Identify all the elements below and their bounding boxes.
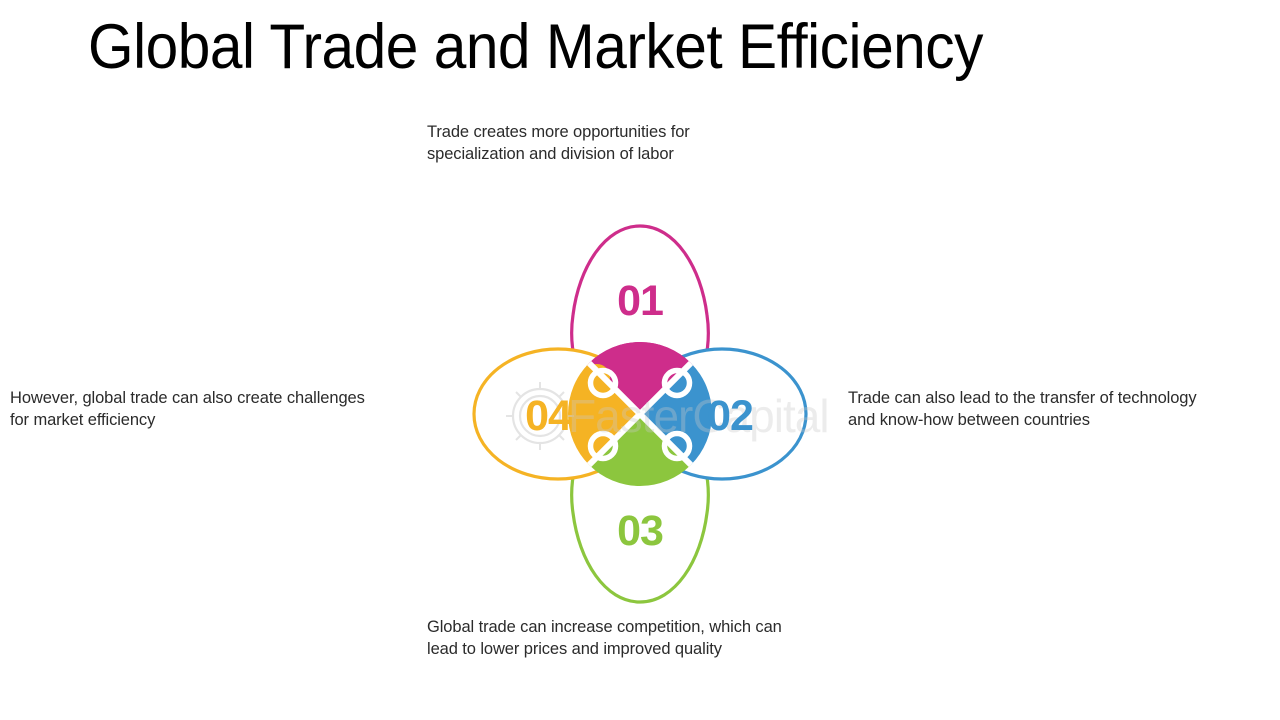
petal-number-03: 03: [617, 507, 663, 555]
four-petal-puzzle-diagram: FasterCapital 01 02 03 04: [430, 195, 850, 625]
caption-petal-04: However, global trade can also create ch…: [10, 387, 430, 431]
caption-petal-02-line2: and know-how between countries: [848, 409, 1268, 431]
caption-petal-02-line1: Trade can also lead to the transfer of t…: [848, 387, 1268, 409]
caption-petal-03-line2: lead to lower prices and improved qualit…: [427, 638, 857, 660]
caption-petal-01: Trade creates more opportunities for spe…: [427, 121, 767, 165]
petal-number-01: 01: [617, 277, 663, 325]
caption-petal-04-line2: for market efficiency: [10, 409, 430, 431]
page-title: Global Trade and Market Efficiency: [88, 8, 983, 86]
petal-number-02: 02: [707, 392, 753, 440]
caption-petal-01-line2: specialization and division of labor: [427, 143, 767, 165]
watermark-label: FasterCapital: [568, 390, 829, 442]
petal-number-04: 04: [525, 392, 572, 440]
caption-petal-02: Trade can also lead to the transfer of t…: [848, 387, 1268, 431]
caption-petal-01-line1: Trade creates more opportunities for: [427, 121, 767, 143]
caption-petal-04-line1: However, global trade can also create ch…: [10, 387, 430, 409]
